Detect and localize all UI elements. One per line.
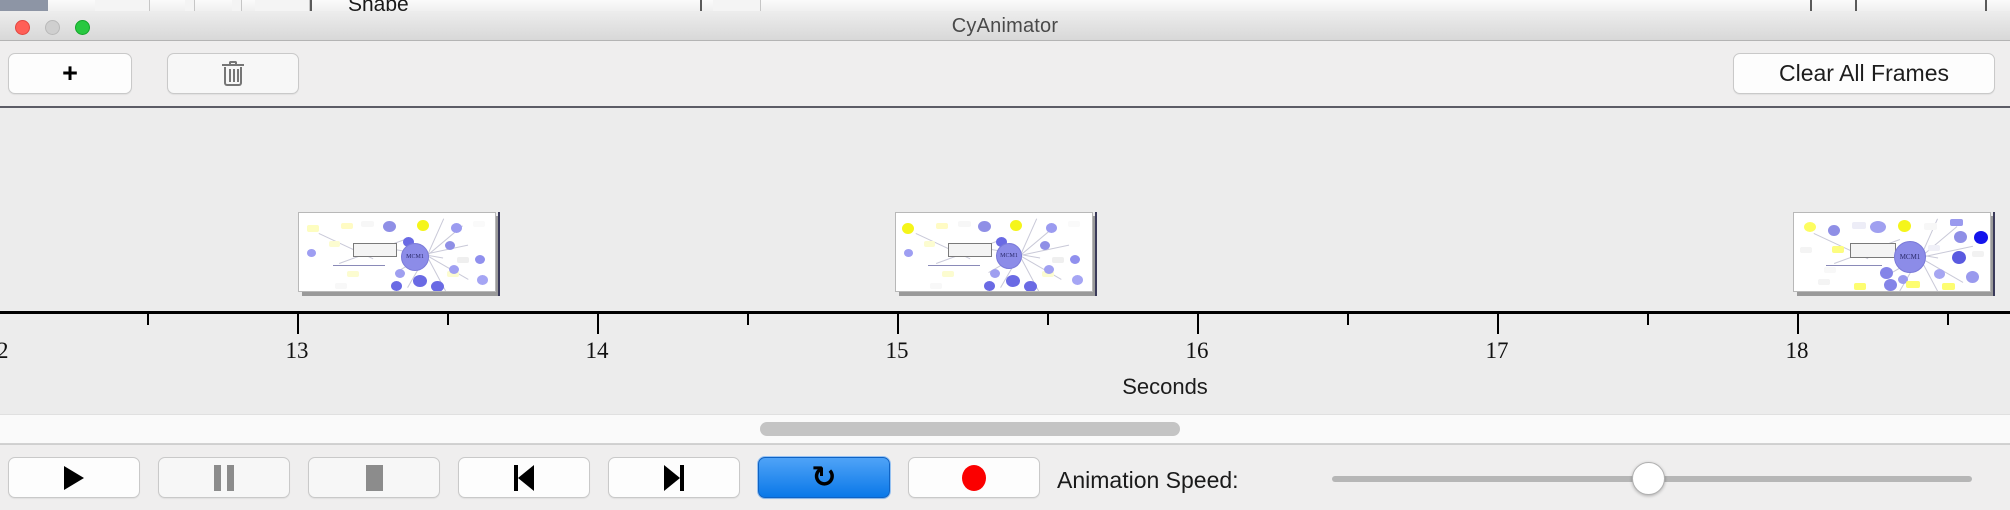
background-window-label: Shape <box>348 0 409 11</box>
record-button[interactable] <box>908 457 1040 498</box>
skip-previous-icon <box>514 465 534 491</box>
play-button[interactable] <box>8 457 140 498</box>
axis-tick-label: 15 <box>867 338 927 364</box>
frame-thumbnail: MCM1 <box>895 212 1093 292</box>
axis-tick-label: 14 <box>567 338 627 364</box>
frame-time-marker <box>498 212 500 296</box>
axis-major-tick <box>1497 314 1499 334</box>
axis-tick-label: 17 <box>1467 338 1527 364</box>
axis-tick-label: 18 <box>1767 338 1827 364</box>
loop-button[interactable]: ↻ <box>758 457 890 498</box>
stop-button[interactable] <box>308 457 440 498</box>
frame-thumbnail: MCM1 <box>1793 212 1991 292</box>
timeline-frame[interactable]: MCM1 <box>895 212 1097 296</box>
axis-minor-tick <box>1947 314 1949 325</box>
axis-minor-tick <box>1647 314 1649 325</box>
toolbar: + Clear All Frames <box>0 41 2010 107</box>
timeline-frame[interactable]: MCM1 <box>298 212 500 296</box>
add-frame-button[interactable]: + <box>8 53 132 94</box>
cyanimator-window: Shape CyAnimator + Clear All Frames <box>0 0 2010 510</box>
title-bar: CyAnimator <box>0 11 2010 41</box>
hub-node-label: MCM1 <box>1894 241 1926 273</box>
timeline-scrollbar[interactable] <box>0 414 2010 444</box>
axis-minor-tick <box>447 314 449 325</box>
animation-speed-label: Animation Speed: <box>1057 467 1239 494</box>
slider-thumb[interactable] <box>1632 462 1665 495</box>
axis-major-tick <box>1197 314 1199 334</box>
axis-major-tick <box>897 314 899 334</box>
frame-time-marker <box>1095 212 1097 296</box>
plus-icon: + <box>62 60 78 87</box>
record-icon <box>962 465 986 491</box>
skip-next-icon <box>664 465 684 491</box>
loop-icon: ↻ <box>811 464 836 492</box>
delete-frame-button[interactable] <box>167 53 299 94</box>
window-title: CyAnimator <box>0 11 2010 41</box>
play-icon <box>64 466 84 490</box>
frame-thumbnail: MCM1 <box>298 212 496 292</box>
skip-next-button[interactable] <box>608 457 740 498</box>
timeline-axis <box>0 311 2010 314</box>
background-titlebar-chunk <box>0 0 48 11</box>
axis-minor-tick <box>1347 314 1349 325</box>
axis-tick-label: 12 <box>0 338 27 364</box>
axis-major-tick <box>297 314 299 334</box>
frame-time-marker <box>1993 212 1995 296</box>
axis-tick-label: 13 <box>267 338 327 364</box>
trash-icon <box>222 61 244 87</box>
scrollbar-thumb[interactable] <box>760 422 1180 436</box>
axis-major-tick <box>597 314 599 334</box>
hub-node-label: MCM1 <box>996 243 1022 269</box>
axis-minor-tick <box>147 314 149 325</box>
pause-icon <box>214 465 234 491</box>
background-window-strip: Shape <box>0 0 2010 11</box>
axis-minor-tick <box>747 314 749 325</box>
pause-button[interactable] <box>158 457 290 498</box>
animation-speed-slider[interactable] <box>1332 476 1972 482</box>
axis-title: Seconds <box>1122 374 1208 400</box>
timeline-panel[interactable]: MCM1 <box>0 108 2010 312</box>
stop-icon <box>366 465 383 491</box>
playback-controls: ↻ Animation Speed: <box>0 444 2010 510</box>
clear-all-frames-button[interactable]: Clear All Frames <box>1733 53 1995 94</box>
axis-title-wrap: Seconds <box>0 374 2010 400</box>
axis-tick-label: 16 <box>1167 338 1227 364</box>
axis-minor-tick <box>1047 314 1049 325</box>
axis-major-tick <box>1797 314 1799 334</box>
timeline-frame[interactable]: MCM1 <box>1793 212 1995 296</box>
skip-previous-button[interactable] <box>458 457 590 498</box>
hub-node-label: MCM1 <box>401 243 429 271</box>
